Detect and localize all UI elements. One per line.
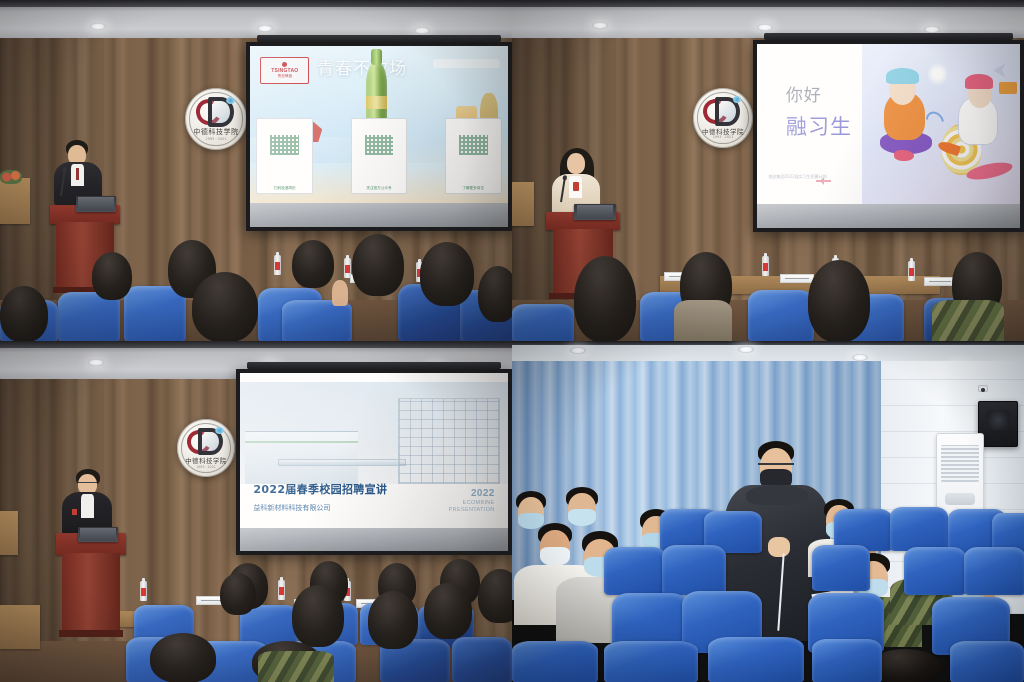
audience-head (368, 591, 418, 649)
wifi-icon (922, 108, 947, 133)
ceiling-downlight (257, 25, 273, 32)
auditorium-seat (904, 547, 966, 595)
presenter-lanyard (573, 182, 579, 191)
emblem-name-cn: 中德科技学院 (693, 126, 753, 136)
presenter-badge (72, 509, 77, 515)
school-emblem: 中德科技学院 1993 · 2021 (693, 88, 753, 148)
ceiling-downlight (757, 24, 773, 31)
ceiling-downlight (88, 359, 104, 366)
emblem-name-cn: 中德科技学院 (177, 456, 235, 465)
student-hand (768, 537, 790, 557)
projection-screen: E E COMBINE 益科 2022届春季校园招聘宣讲 益科新材料科技有限公司… (236, 369, 512, 555)
qr-code-graphic (365, 135, 394, 155)
ceiling-downlight (570, 347, 586, 354)
factory-walkway (278, 459, 407, 466)
screen-lower-shadow (757, 204, 1020, 228)
projection-screen: 你好 融习生 融创集团2022届实习生招募计划 (753, 40, 1024, 232)
presenter-tie (76, 168, 79, 180)
audience-head (352, 234, 404, 296)
audience-head (92, 252, 132, 300)
name-card (780, 274, 814, 283)
side-table (512, 182, 534, 226)
school-emblem: 中德科技学院 1993 · 2021 (185, 88, 247, 150)
slide-illustration (862, 44, 1020, 204)
podium-body (62, 553, 119, 633)
audience-head (808, 260, 870, 341)
photo-collage: 中德科技学院 1993 · 2021 TSINGTAO 青岛啤酒 青春不散场 (0, 0, 1024, 682)
factory-building-left (245, 431, 358, 484)
brand-cn: 青岛啤酒 (278, 74, 292, 79)
qr-card: 了解更多岗位 (445, 118, 502, 194)
auditorium-seat (890, 507, 948, 551)
ceiling-downlight (90, 23, 106, 30)
presenter-glasses-icon (78, 482, 97, 483)
qr-caption: 关注官方公众号 (352, 186, 407, 191)
audience-head (0, 286, 48, 341)
panel-top-left: 中德科技学院 1993 · 2021 TSINGTAO 青岛啤酒 青春不散场 (0, 0, 512, 341)
audience-head (220, 573, 256, 615)
ceiling-downlight (852, 354, 868, 361)
audience-head (424, 583, 472, 639)
emblem-name-en: 1993 · 2021 (185, 137, 247, 141)
slide-line2: 融习生 (786, 111, 862, 141)
slide-stamp: 2022 ECOMBINE PRESENTATION (449, 488, 495, 514)
ceiling-camera-icon[interactable] (978, 385, 988, 392)
podium (56, 533, 126, 633)
hoodie-hood (746, 485, 808, 505)
factory-photo (240, 382, 508, 484)
logo-dot (282, 62, 287, 67)
qr-card: 关注官方公众号 (351, 118, 408, 194)
presenter-laptop (76, 196, 116, 212)
side-table (0, 178, 30, 224)
auditorium-seat (964, 547, 1024, 595)
emblem-monogram (196, 96, 237, 128)
screen-surface: TSINGTAO 青岛啤酒 青春不散场 扫码投递简历 关注 (250, 46, 508, 227)
scarf (674, 300, 732, 341)
audience-head (192, 272, 258, 341)
presenter-laptop (78, 527, 118, 542)
audience-head (478, 266, 512, 322)
presenter-shirt (81, 494, 94, 518)
paper-plane-graphic (993, 63, 1006, 77)
panel-bottom-left: 中德科技学院 1993 · 2021 E E COMBINE 益科 (0, 341, 512, 682)
wall-speaker (978, 401, 1018, 447)
student-glasses-icon (758, 463, 794, 465)
water-bottle (140, 581, 147, 601)
slide-title: 2022届春季校园招聘宣讲 (253, 481, 387, 497)
auditorium-seat (604, 547, 666, 595)
emblem-name-cn: 中德科技学院 (185, 127, 247, 137)
auditorium-seat (748, 290, 814, 341)
screen-surface: 你好 融习生 融创集团2022届实习生招募计划 (757, 44, 1020, 228)
flower-arrangement (0, 170, 22, 184)
factory-building-right (398, 398, 500, 485)
emblem-name-en: 1993 · 2021 (177, 465, 235, 469)
slide-tsingtao: TSINGTAO 青岛啤酒 青春不散场 扫码投递简历 关注 (250, 46, 508, 203)
slide-arrow-icon (816, 180, 831, 182)
slide-company: 益科新材料科技有限公司 (253, 503, 330, 513)
ac-grille (941, 445, 980, 481)
qr-caption: 了解更多岗位 (446, 186, 501, 191)
camouflage-jacket (932, 300, 1004, 341)
stamp-line2: PRESENTATION (449, 507, 495, 514)
slide-hello-intern: 你好 融习生 融创集团2022届实习生招募计划 (757, 44, 1020, 204)
qr-code-graphic (459, 135, 488, 155)
tsingtao-logo: TSINGTAO 青岛啤酒 (260, 57, 309, 84)
audience-head (420, 242, 474, 306)
side-table (0, 605, 40, 649)
panel-top-right: 中德科技学院 1993 · 2021 你好 融习生 融创集团2022届实习生招募… (512, 0, 1024, 341)
slide-line1: 你好 (786, 81, 862, 106)
slide-ecombine: E E COMBINE 益科 2022届春季校园招聘宣讲 益科新材料科技有限公司… (240, 373, 508, 528)
stamp-year: 2022 (449, 488, 495, 501)
character-a-shoe (894, 150, 915, 161)
auditorium-seat (604, 641, 698, 682)
water-bottle (762, 256, 769, 276)
character-b-hat (965, 74, 993, 88)
ac-control-panel[interactable] (945, 493, 974, 506)
auditorium-seat (950, 641, 1024, 682)
audience-head (478, 569, 512, 623)
auditorium-seat (452, 637, 512, 682)
camouflage-jacket (258, 651, 334, 682)
school-emblem: 中德科技学院 1993 · 2021 (177, 419, 235, 477)
stamp-line1: ECOMBINE (449, 500, 495, 507)
side-table (0, 511, 18, 555)
podium-base (59, 630, 123, 637)
ceiling-downlight (592, 22, 608, 29)
audience-head (292, 585, 344, 647)
auditorium-seat (282, 300, 352, 341)
water-bottle (278, 580, 285, 600)
slide-text-block: 你好 融习生 融创集团2022届实习生招募计划 (757, 44, 862, 204)
panel-bottom-right (512, 341, 1024, 682)
ceiling-downlight (924, 26, 940, 33)
qr-card: 扫码投递简历 (256, 118, 313, 194)
screen-lower-shadow (240, 528, 508, 551)
auditorium-seat (708, 637, 804, 682)
screen-lower-shadow (250, 203, 508, 227)
speaker-cone (986, 410, 1010, 430)
character-a-hat (886, 68, 919, 84)
ceiling-downlight (738, 346, 754, 353)
auditorium-seat (512, 641, 598, 682)
projection-screen: TSINGTAO 青岛啤酒 青春不散场 扫码投递简历 关注 (246, 42, 512, 231)
screen-surface: E E COMBINE 益科 2022届春季校园招聘宣讲 益科新材料科技有限公司… (240, 373, 508, 551)
audience-head (292, 240, 334, 288)
ceiling-downlight (414, 27, 430, 34)
auditorium-seat (812, 545, 870, 591)
audience-head (574, 256, 636, 341)
lightbulb-graphic (928, 62, 947, 86)
auditorium-seat (662, 545, 726, 595)
emblem-monogram (703, 96, 743, 127)
auditorium-seat (512, 304, 574, 341)
audience-head (150, 633, 216, 682)
qr-caption: 扫码投递简历 (257, 186, 312, 191)
tag-graphic (999, 82, 1016, 93)
qr-code-graphic (270, 135, 299, 155)
water-bottle (908, 261, 915, 281)
face-mask (540, 547, 570, 566)
presenter-laptop (574, 204, 616, 220)
raised-hand (332, 280, 348, 306)
presenter-head (567, 153, 585, 174)
emblem-monogram (187, 427, 225, 457)
water-bottle (274, 255, 281, 275)
emblem-name-en: 1993 · 2021 (693, 135, 753, 139)
auditorium-seat (812, 639, 882, 682)
